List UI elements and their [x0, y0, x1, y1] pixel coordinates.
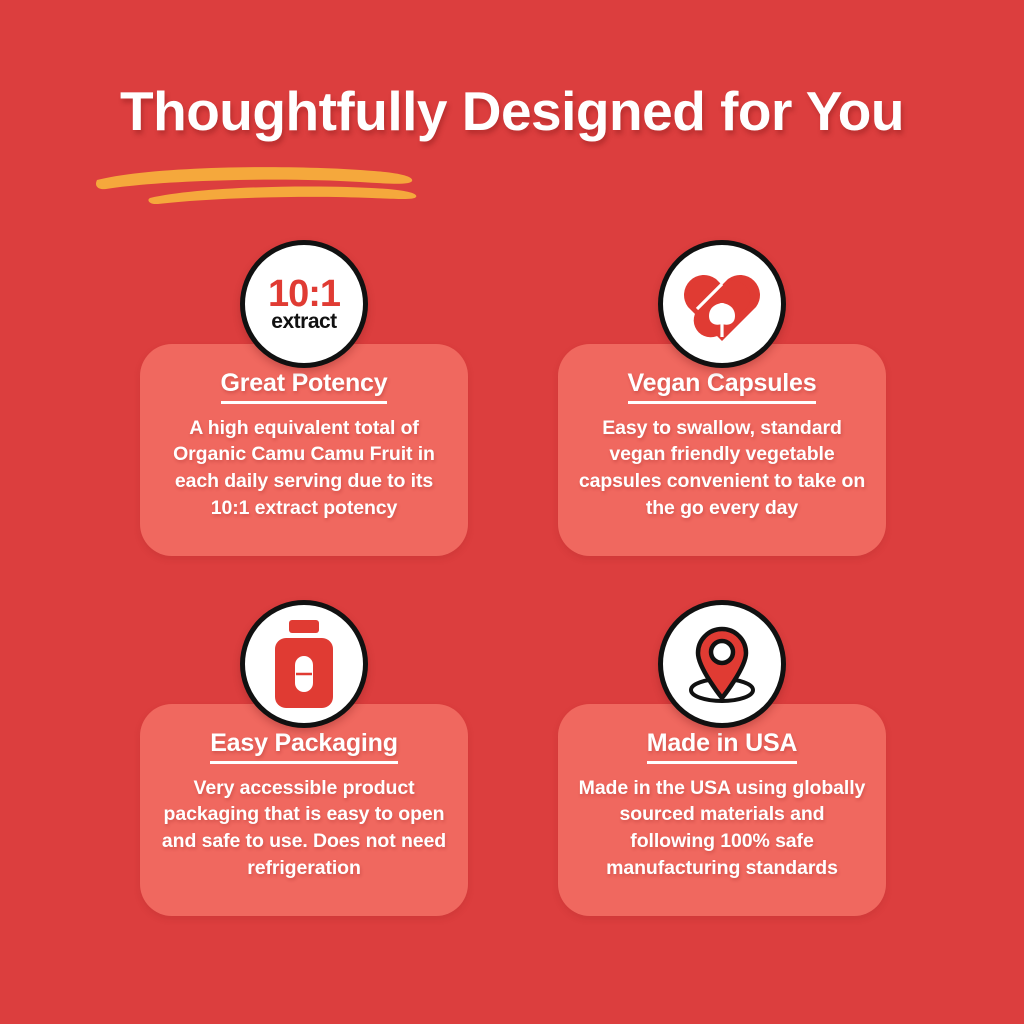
- page-title: Thoughtfully Designed for You: [0, 84, 1024, 139]
- card-heading: Easy Packaging: [210, 730, 398, 764]
- feature-card-easy-packaging[interactable]: Easy Packaging Very accessible product p…: [95, 596, 513, 926]
- card-panel: Made in USA Made in the USA using global…: [558, 704, 886, 916]
- card-heading: Great Potency: [221, 370, 388, 404]
- header: Thoughtfully Designed for You: [0, 0, 1024, 215]
- heart-capsule-leaf-icon: [658, 240, 786, 368]
- features-grid: 10:1 extract Great Potency A high equiva…: [0, 236, 1024, 936]
- card-heading: Made in USA: [647, 730, 798, 764]
- card-panel: Vegan Capsules Easy to swallow, standard…: [558, 344, 886, 556]
- feature-card-great-potency[interactable]: 10:1 extract Great Potency A high equiva…: [95, 236, 513, 566]
- location-pin-icon: [658, 600, 786, 728]
- supplement-bottle-icon: [240, 600, 368, 728]
- extract-ratio-text: 10:1: [268, 275, 340, 313]
- feature-card-made-in-usa[interactable]: Made in USA Made in the USA using global…: [513, 596, 931, 926]
- card-panel: Easy Packaging Very accessible product p…: [140, 704, 468, 916]
- card-heading: Vegan Capsules: [628, 370, 817, 404]
- card-description: Made in the USA using globally sourced m…: [558, 775, 886, 882]
- card-description: Very accessible product packaging that i…: [140, 775, 468, 882]
- feature-card-vegan-capsules[interactable]: Vegan Capsules Easy to swallow, standard…: [513, 236, 931, 566]
- card-panel: Great Potency A high equivalent total of…: [140, 344, 468, 556]
- extract-ratio-badge-icon: 10:1 extract: [240, 240, 368, 368]
- title-underline-brushstroke-icon: [92, 158, 442, 204]
- card-description: Easy to swallow, standard vegan friendly…: [558, 415, 886, 522]
- extract-caption-text: extract: [268, 311, 340, 332]
- card-description: A high equivalent total of Organic Camu …: [140, 415, 468, 522]
